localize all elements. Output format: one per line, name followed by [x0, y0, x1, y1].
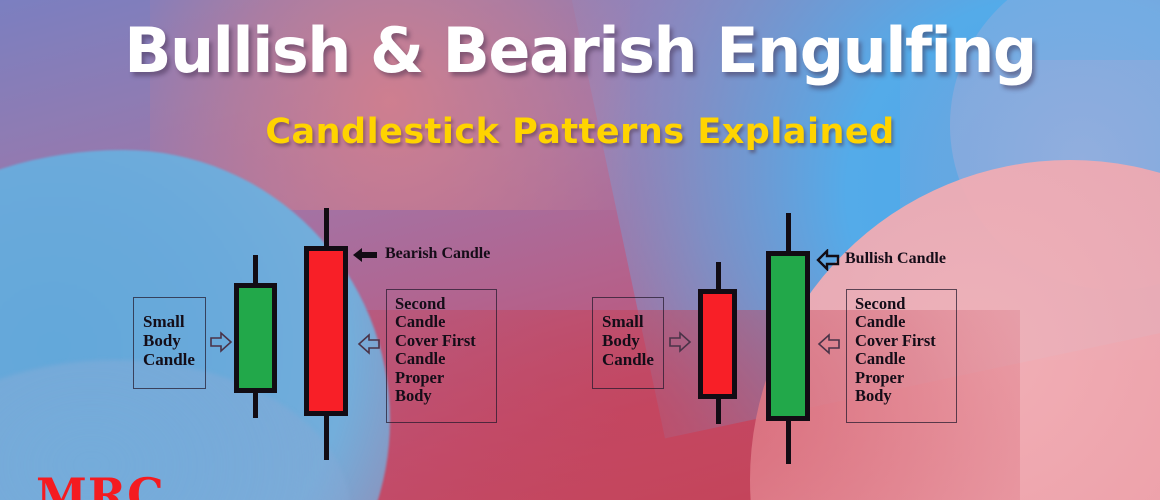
candle-wick-lower-2b [786, 414, 791, 464]
second-candle-line-3: Cover First [855, 332, 956, 350]
second-candle-line-6: Body [855, 387, 956, 405]
candle-body-bullish-large-2b [766, 251, 810, 421]
second-candle-line-4: Candle [855, 350, 956, 368]
watermark-logo: MRC [36, 472, 165, 500]
small-body-candle-box-right: Small Body Candle [592, 297, 664, 389]
arrow-left-hollow-callout-icon [816, 249, 840, 271]
second-candle-line-1: Second [855, 295, 956, 313]
small-body-line-2: Body [602, 331, 663, 350]
second-candle-line-2: Candle [855, 313, 956, 331]
second-candle-box-right: Second Candle Cover First Candle Proper … [846, 289, 957, 423]
arrow-left-hollow-icon-2 [817, 332, 841, 356]
arrow-right-hollow-icon-2 [668, 330, 692, 354]
candle-body-bearish-small-2a [698, 289, 737, 399]
infographic-canvas: Bullish & Bearish Engulfing Candlestick … [0, 0, 1160, 500]
bullish-engulfing-diagram: Small Body Candle Bullish Candle [0, 0, 1160, 500]
bullish-candle-label: Bullish Candle [845, 250, 946, 268]
second-candle-line-5: Proper [855, 369, 956, 387]
small-body-line-3: Candle [602, 350, 663, 369]
small-body-line-1: Small [602, 312, 663, 331]
